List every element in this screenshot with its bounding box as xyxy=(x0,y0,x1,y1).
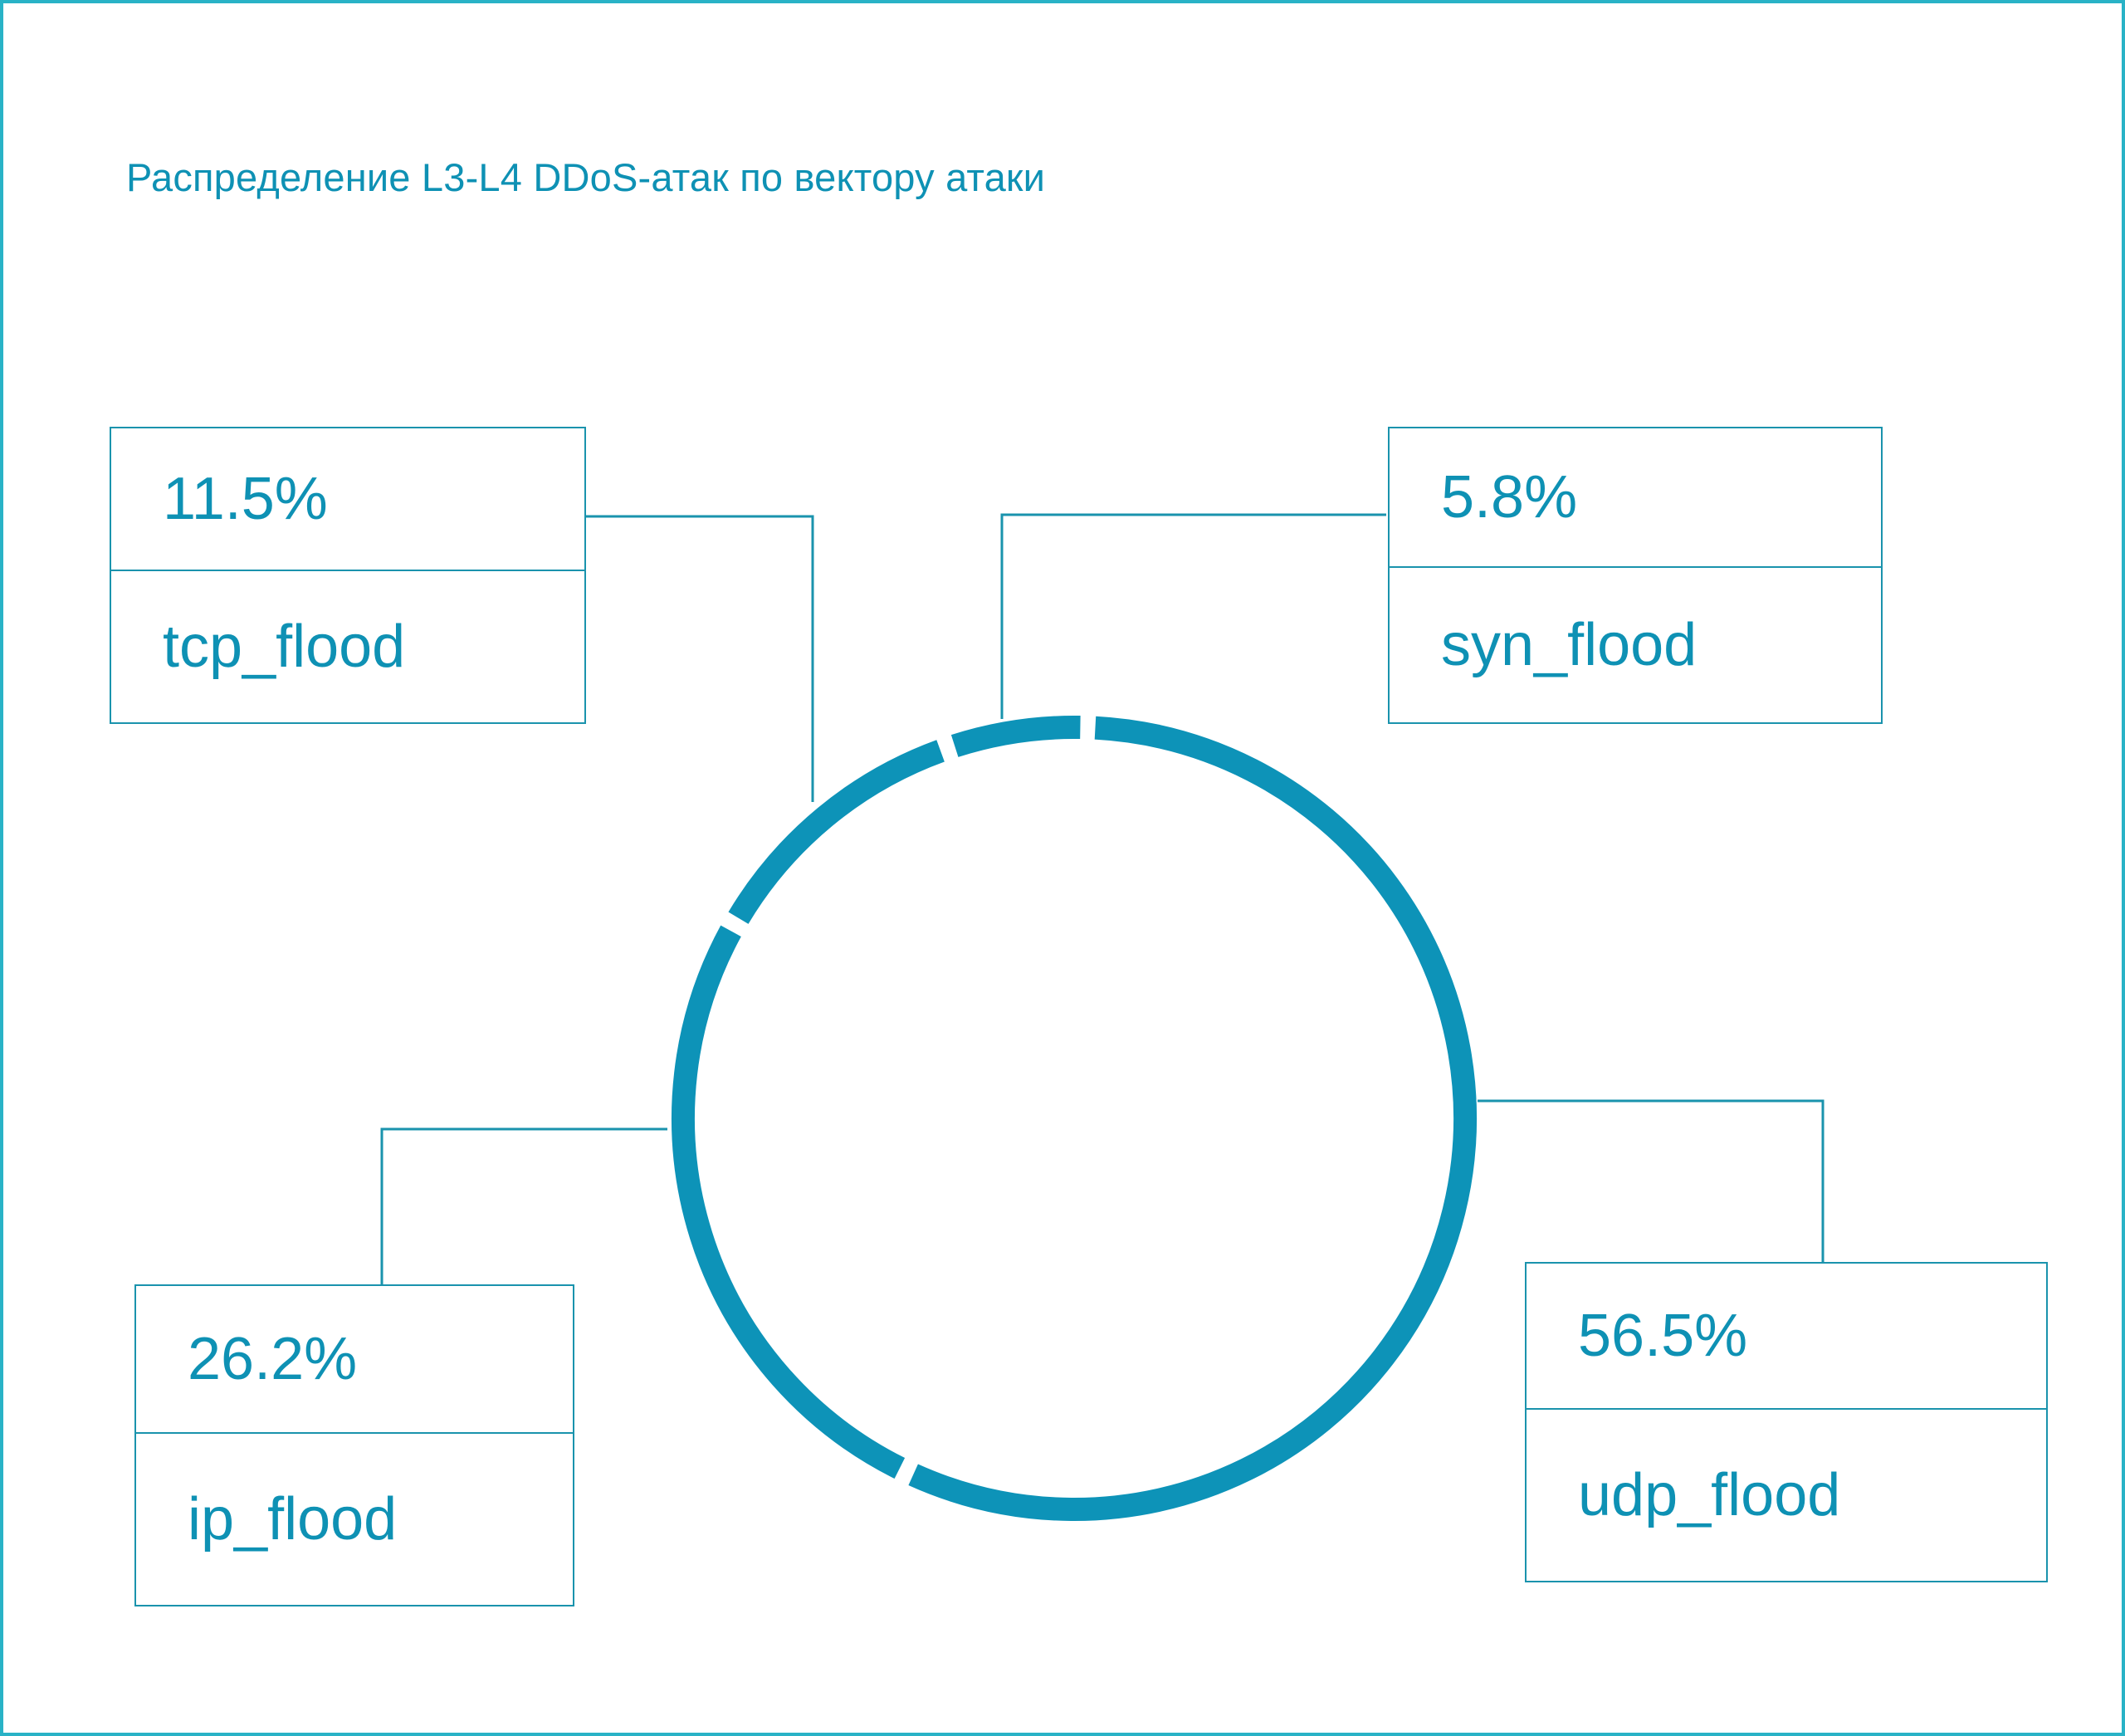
callout-value: 11.5% xyxy=(111,428,584,571)
leader-line-udp_flood xyxy=(1478,1101,1823,1264)
donut-segment-ip_flood xyxy=(683,931,900,1468)
leader-line-syn_flood xyxy=(1002,515,1386,719)
callout-label: tcp_flood xyxy=(111,571,584,722)
callout-tcp_flood[interactable]: 11.5% tcp_flood xyxy=(110,427,586,724)
callout-udp_flood[interactable]: 56.5% udp_flood xyxy=(1525,1262,2048,1582)
chart-canvas: Распределение L3-L4 DDoS-атак по вектору… xyxy=(0,0,2125,1736)
callout-value: 56.5% xyxy=(1527,1264,2046,1410)
leader-line-tcp_flood xyxy=(586,516,813,802)
callout-value: 26.2% xyxy=(136,1286,573,1434)
donut-segment-tcp_flood xyxy=(739,751,941,917)
donut-segment-syn_flood xyxy=(955,727,1080,746)
callout-syn_flood[interactable]: 5.8% syn_flood xyxy=(1388,427,1883,724)
callout-value: 5.8% xyxy=(1390,428,1881,568)
donut-segment-udp_flood xyxy=(913,728,1465,1509)
callout-label: ip_flood xyxy=(136,1434,573,1605)
callout-ip_flood[interactable]: 26.2% ip_flood xyxy=(134,1284,574,1606)
callout-label: syn_flood xyxy=(1390,568,1881,722)
callout-label: udp_flood xyxy=(1527,1410,2046,1581)
leader-line-ip_flood xyxy=(382,1129,667,1286)
